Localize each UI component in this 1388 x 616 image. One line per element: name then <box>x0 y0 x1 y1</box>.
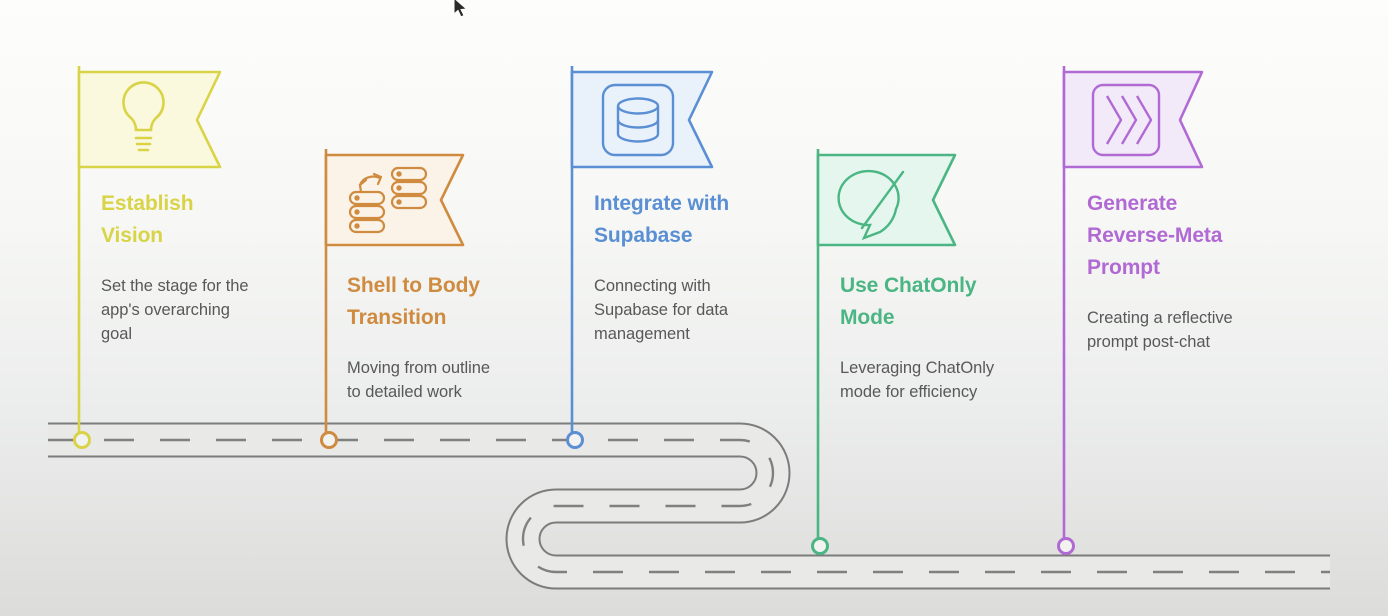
milestone-text-establish-vision: Establish Vision Set the stage for the a… <box>101 181 301 347</box>
milestone-title: Establish Vision <box>101 188 301 252</box>
road-marker <box>813 539 828 554</box>
flag-banner <box>1064 72 1202 167</box>
milestone-description: Creating a reflective prompt post-chat <box>1087 306 1297 355</box>
road-marker <box>1059 539 1074 554</box>
milestone-text-generate-reverse-meta-prompt: Generate Reverse-Meta Prompt Creating a … <box>1087 181 1297 354</box>
milestone-description: Moving from outline to detailed work <box>347 356 557 405</box>
milestone-text-use-chatonly-mode: Use ChatOnly Mode Leveraging ChatOnly mo… <box>840 263 1050 404</box>
road-marker <box>322 433 337 448</box>
milestone-title: Generate Reverse-Meta Prompt <box>1087 188 1297 284</box>
milestone-title: Integrate with Supabase <box>594 188 794 252</box>
milestone-title: Use ChatOnly Mode <box>840 270 1050 334</box>
road-marker <box>75 433 90 448</box>
milestone-title: Shell to Body Transition <box>347 270 557 334</box>
flag-banner <box>79 72 220 167</box>
milestone-text-integrate-with-supabase: Integrate with Supabase Connecting with … <box>594 181 794 347</box>
milestone-description: Leveraging ChatOnly mode for efficiency <box>840 356 1050 405</box>
road-marker <box>568 433 583 448</box>
milestone-text-shell-to-body-transition: Shell to Body Transition Moving from out… <box>347 263 557 404</box>
milestone-description: Set the stage for the app's overarching … <box>101 274 301 347</box>
milestone-description: Connecting with Supabase for data manage… <box>594 274 794 347</box>
flag-banner <box>572 72 712 167</box>
roadmap-diagram: Establish Vision Set the stage for the a… <box>0 0 1388 616</box>
